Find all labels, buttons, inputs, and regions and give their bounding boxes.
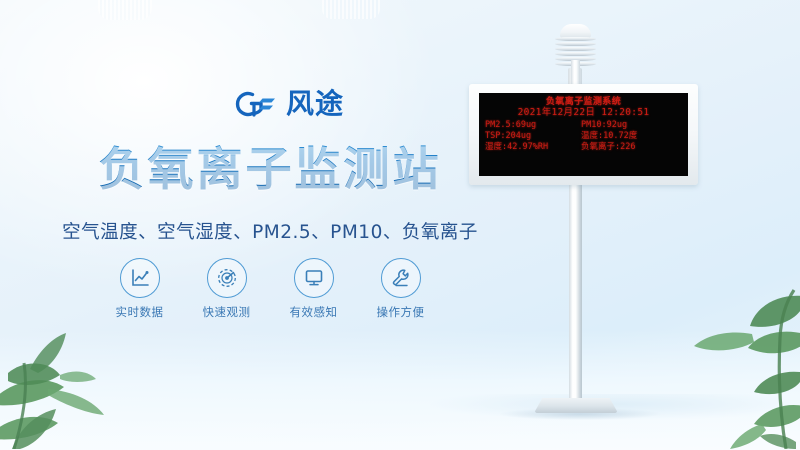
led-reading-row: 湿度:42.97%RH 负氧离子:226 (485, 142, 688, 153)
reading-humidity: 湿度:42.97%RH (485, 142, 581, 153)
reading-pm25: PM2.5:69ug (485, 120, 581, 131)
reading-negative-ions: 负氧离子:226 (581, 142, 677, 153)
promo-banner: 风途 负氧离子监测站 空气温度、空气湿度、PM2.5、PM10、负氧离子 实时数… (0, 0, 800, 450)
reading-pm10: PM10:92ug (581, 120, 677, 131)
led-readings: PM2.5:69ug PM10:92ug TSP:204ug 温度:10.72度… (479, 120, 688, 153)
plant-leaves-left-icon (0, 309, 144, 450)
led-reading-row: TSP:204ug 温度:10.72度 (485, 131, 688, 142)
led-reading-row: PM2.5:69ug PM10:92ug (485, 120, 688, 131)
reading-temperature: 温度:10.72度 (581, 131, 677, 142)
led-screen: 负氧离子监测系统 2021年12月22日 12:20:51 PM2.5:69ug… (479, 93, 688, 176)
sensor-cap (560, 24, 591, 38)
led-screen-title: 负氧离子监测系统 (479, 93, 688, 107)
led-billboard[interactable]: 负氧离子监测系统 2021年12月22日 12:20:51 PM2.5:69ug… (469, 84, 698, 185)
reading-tsp: TSP:204ug (485, 131, 581, 142)
led-screen-datetime: 2021年12月22日 12:20:51 (479, 108, 688, 118)
base-plate (534, 398, 618, 413)
plant-leaves-right-icon (674, 274, 800, 450)
